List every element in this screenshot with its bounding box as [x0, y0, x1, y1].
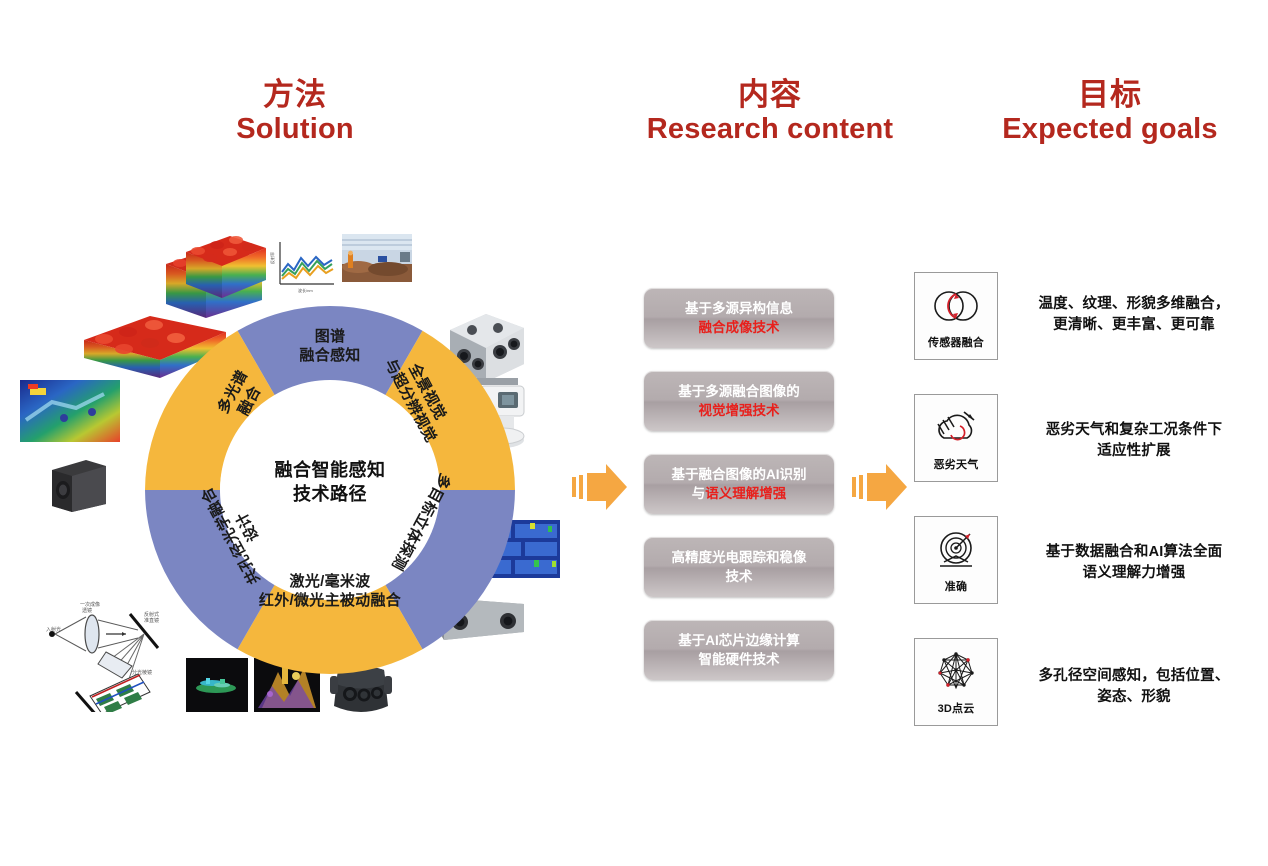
research-box-3-line2: 语义理解增强 — [705, 486, 786, 501]
goal-card-bad-weather[interactable]: 恶劣天气 — [914, 394, 998, 482]
expected-goals-list: 传感器融合 温度、纹理、形貌多维融合， 更清晰、更丰富、更可靠 — [914, 272, 1254, 760]
goal-text-1: 温度、纹理、形貌多维融合， 更清晰、更丰富、更可靠 — [998, 272, 1254, 336]
svg-text:透镜: 透镜 — [82, 607, 92, 614]
goal-card-accuracy[interactable]: 准确 — [914, 516, 998, 604]
point-cloud-3d-icon — [930, 648, 982, 696]
goal-text-2-line1: 恶劣天气和复杂工况条件下 — [1014, 420, 1254, 441]
research-content-list: 基于多源异构信息 融合成像技术 基于多源融合图像的 视觉增强技术 基于融合图像的… — [644, 288, 834, 703]
header-en-goals: Expected goals — [960, 113, 1260, 145]
goal-row-sensor-fusion: 传感器融合 温度、纹理、形貌多维融合， 更清晰、更丰富、更可靠 — [914, 272, 1254, 372]
svg-text:反射率: 反射率 — [269, 252, 275, 264]
header-en-solution: Solution — [170, 113, 420, 145]
research-box-5-line1: 基于AI芯片边缘计算 — [678, 631, 800, 650]
spectral-curve-plot: 反射率 波长/nm — [269, 242, 334, 293]
goal-text-3-line2: 语义理解力增强 — [1014, 563, 1254, 584]
hyperspectral-cube-top — [186, 236, 266, 298]
arrow-content-to-goals — [850, 462, 910, 512]
goal-card-caption-2: 恶劣天气 — [934, 456, 979, 472]
research-box-4[interactable]: 高精度光电跟踪和稳像 技术 — [644, 537, 834, 597]
sensor-fusion-icon — [930, 282, 982, 330]
goal-row-bad-weather: 恶劣天气 恶劣天气和复杂工况条件下 适应性扩展 — [914, 394, 1254, 494]
header-cn-goals: 目标 — [960, 78, 1260, 113]
industrial-pipe-photo — [342, 234, 412, 282]
goal-text-4-line1: 多孔径空间感知，包括位置、 — [1014, 666, 1254, 687]
column-header-goals: 目标 Expected goals — [960, 78, 1260, 145]
thermal-scene-image — [20, 380, 120, 442]
research-box-3-line1: 基于融合图像的AI识别 — [672, 465, 807, 484]
header-cn-content: 内容 — [600, 78, 940, 113]
research-box-3[interactable]: 基于融合图像的AI识别 与语义理解增强 — [644, 454, 834, 514]
goal-row-point-cloud: 3D点云 多孔径空间感知，包括位置、 姿态、形貌 — [914, 638, 1254, 738]
goal-card-caption-1: 传感器融合 — [928, 334, 984, 350]
goal-text-1-line1: 温度、纹理、形貌多维融合， — [1014, 294, 1254, 315]
svg-text:入射光: 入射光 — [46, 626, 61, 633]
diagram-canvas: 方法 Solution 内容 Research content 目标 Expec… — [0, 0, 1268, 866]
goal-row-accuracy: 准确 基于数据融合和AI算法全面 语义理解力增强 — [914, 516, 1254, 616]
goal-text-4: 多孔径空间感知，包括位置、 姿态、形貌 — [998, 638, 1254, 708]
research-box-5-line2: 智能硬件技术 — [678, 650, 800, 669]
compact-camera-module — [52, 460, 106, 512]
research-box-3-line2-prefix: 与 — [692, 486, 706, 501]
research-box-4-line2: 技术 — [672, 567, 807, 586]
research-box-2-line2: 视觉增强技术 — [678, 401, 800, 420]
wheel-center-line1: 融合智能感知 — [240, 458, 420, 482]
research-box-1[interactable]: 基于多源异构信息 融合成像技术 — [644, 288, 834, 348]
bad-weather-icon — [930, 404, 982, 452]
research-box-1-line1: 基于多源异构信息 — [685, 299, 793, 318]
header-en-content: Research content — [600, 113, 940, 145]
goal-text-2-line2: 适应性扩展 — [1014, 441, 1254, 462]
wheel-center-title: 融合智能感知 技术路径 — [240, 458, 420, 507]
solution-wheel: 图谱 融合感知 全景视觉 与超分辨视觉 多目标立体探测 激光/毫米波 红外/微光… — [130, 290, 530, 690]
goal-card-point-cloud[interactable]: 3D点云 — [914, 638, 998, 726]
svg-text:一次成像: 一次成像 — [80, 601, 100, 608]
wheel-center-line2: 技术路径 — [240, 482, 420, 506]
header-cn-solution: 方法 — [170, 78, 420, 113]
goal-card-caption-3: 准确 — [945, 578, 967, 594]
goal-text-4-line2: 姿态、形貌 — [1014, 687, 1254, 708]
goal-card-caption-4: 3D点云 — [938, 700, 975, 716]
column-header-content: 内容 Research content — [600, 78, 940, 145]
research-box-2[interactable]: 基于多源融合图像的 视觉增强技术 — [644, 371, 834, 431]
research-box-2-line1: 基于多源融合图像的 — [678, 382, 800, 401]
column-header-solution: 方法 Solution — [170, 78, 420, 145]
goal-text-3-line1: 基于数据融合和AI算法全面 — [1014, 542, 1254, 563]
goal-card-sensor-fusion[interactable]: 传感器融合 — [914, 272, 998, 360]
target-accuracy-icon — [930, 526, 982, 574]
research-box-4-line1: 高精度光电跟踪和稳像 — [672, 548, 807, 567]
goal-text-1-line2: 更清晰、更丰富、更可靠 — [1014, 315, 1254, 336]
goal-text-3: 基于数据融合和AI算法全面 语义理解力增强 — [998, 516, 1254, 584]
arrow-solution-to-content — [570, 462, 630, 512]
research-box-1-line2: 融合成像技术 — [685, 318, 793, 337]
goal-text-2: 恶劣天气和复杂工况条件下 适应性扩展 — [998, 394, 1254, 462]
research-box-5[interactable]: 基于AI芯片边缘计算 智能硬件技术 — [644, 620, 834, 680]
